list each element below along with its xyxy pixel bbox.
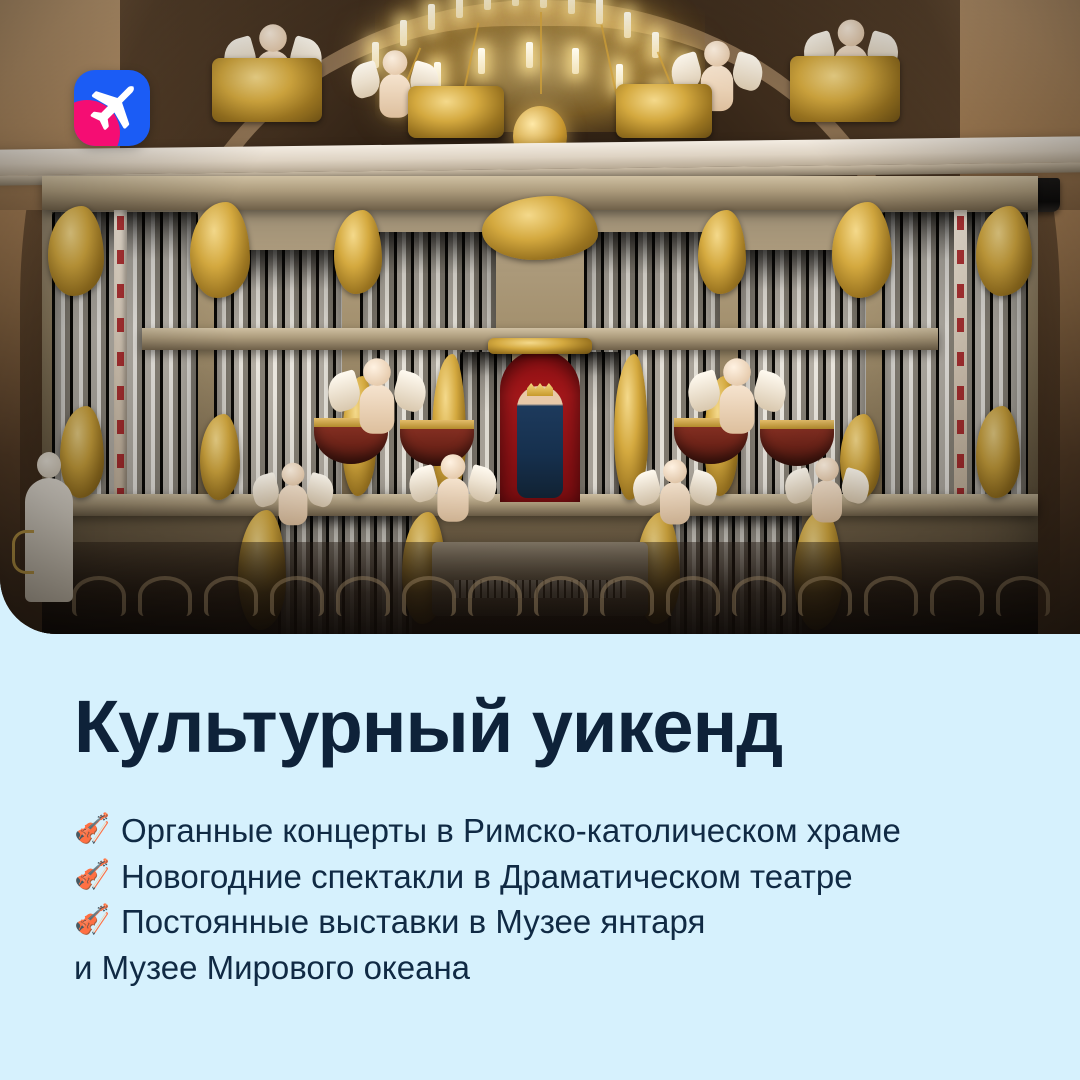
violin-emoji: 🎻 bbox=[74, 899, 108, 943]
cherub-left bbox=[344, 358, 411, 433]
madonna-niche bbox=[500, 350, 580, 502]
app-logo[interactable] bbox=[74, 70, 150, 146]
muse-statue bbox=[18, 452, 80, 602]
violin-emoji: 🎻 bbox=[74, 808, 108, 852]
gold-ornament bbox=[212, 58, 322, 122]
violin-emoji: 🎻 bbox=[74, 854, 108, 898]
list-item-label: Новогодние спектакли в Драматическом теа… bbox=[121, 854, 853, 900]
niche-canopy bbox=[488, 338, 592, 354]
iron-scrollwork bbox=[402, 576, 456, 616]
list-item: 🎻 Новогодние спектакли в Драматическом т… bbox=[74, 854, 1016, 900]
balustrade bbox=[42, 542, 1038, 634]
page-title: Культурный уикенд bbox=[74, 690, 1016, 764]
iron-scrollwork bbox=[666, 576, 720, 616]
hero-photo bbox=[0, 0, 1080, 634]
iron-scrollwork bbox=[468, 576, 522, 616]
iron-scrollwork bbox=[534, 576, 588, 616]
airplane-icon bbox=[83, 79, 141, 137]
list-item-label: Органные концерты в Римско-католическом … bbox=[121, 808, 901, 854]
cherub-musician-center-right bbox=[646, 460, 704, 525]
cherub-musician-right bbox=[798, 458, 856, 523]
list-item: 🎻 Постоянные выставки в Музее янтаря bbox=[74, 899, 1016, 945]
list-item-label: Постоянные выставки в Музее янтаря bbox=[121, 899, 705, 945]
iron-scrollwork bbox=[72, 576, 126, 616]
pipe-organ bbox=[42, 176, 1038, 634]
poster: Культурный уикенд 🎻 Органные концерты в … bbox=[0, 0, 1080, 1080]
gold-ornament bbox=[408, 86, 504, 138]
cherub-right bbox=[704, 358, 771, 433]
iron-scrollwork bbox=[270, 576, 324, 616]
iron-scrollwork bbox=[798, 576, 852, 616]
iron-scrollwork bbox=[864, 576, 918, 616]
gold-ornament bbox=[616, 84, 712, 138]
red-decorated-pipe bbox=[957, 216, 964, 496]
iron-scrollwork bbox=[996, 576, 1050, 616]
crown-icon bbox=[527, 383, 553, 396]
church-organ-photo bbox=[0, 0, 1080, 634]
iron-scrollwork bbox=[732, 576, 786, 616]
iron-scrollwork bbox=[600, 576, 654, 616]
madonna-and-child-statue bbox=[517, 386, 563, 498]
iron-scrollwork bbox=[204, 576, 258, 616]
list-item: 🎻 Органные концерты в Римско-католическо… bbox=[74, 808, 1016, 854]
cherub-musician-center bbox=[423, 454, 483, 522]
red-decorated-pipe bbox=[117, 216, 124, 496]
gold-ornament bbox=[790, 56, 900, 122]
cherub-musician-left bbox=[265, 463, 320, 525]
iron-scrollwork bbox=[336, 576, 390, 616]
events-list: 🎻 Органные концерты в Римско-католическо… bbox=[74, 808, 1016, 990]
iron-scrollwork bbox=[138, 576, 192, 616]
list-item-continuation: и Музее Мирового океана bbox=[74, 945, 1016, 991]
content-area: Культурный уикенд 🎻 Органные концерты в … bbox=[0, 634, 1080, 1080]
iron-scrollwork bbox=[930, 576, 984, 616]
list-item-label: и Музее Мирового океана bbox=[74, 945, 470, 991]
harp-icon bbox=[12, 530, 34, 574]
